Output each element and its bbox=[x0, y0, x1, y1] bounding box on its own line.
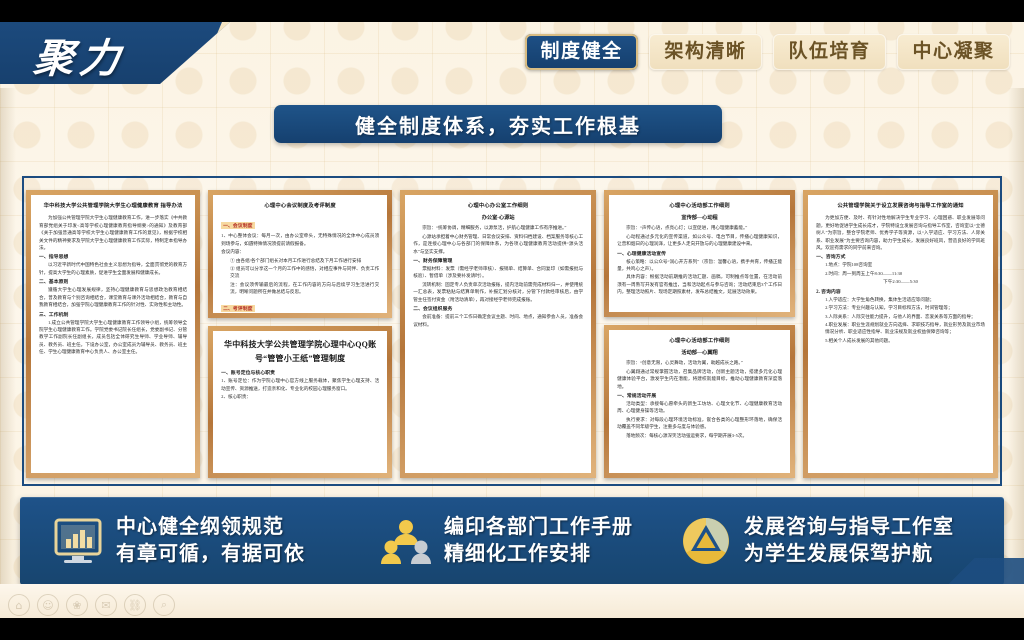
doc-heading: 一、会议制度 bbox=[221, 222, 254, 229]
doc-body: 宗旨：“创意无限，心灵舞动，活动为翼，助越成长之路。”心翼翔通过常规掌握活动，召… bbox=[617, 359, 782, 439]
doc-body: 一、账号定位与核心职责1、账号定位：作为学院心理中心官方线上服务载体，聚焦学生心… bbox=[221, 369, 379, 400]
doc-heading: 二、会议组织服务 bbox=[413, 305, 583, 312]
doc-body: 为更加方便、及时、有针对性地解决学生专业学习、心理困惑、职业发展等问题，更好地促… bbox=[816, 214, 985, 344]
people-group-icon bbox=[380, 515, 432, 567]
doc-paragraph: 1、中心整体会议：每月一次，由办公室牵头，无特殊情况的全体中心成员须到场参与，如… bbox=[221, 232, 379, 247]
qq-icon[interactable]: ✉ bbox=[95, 594, 117, 616]
logo-text: 聚力 bbox=[31, 26, 129, 84]
doc-card-5[interactable]: 心理中心活动部工作细则 活动部—心翼翔 宗旨：“创意无限，心灵舞动，活动为翼，助… bbox=[604, 325, 795, 478]
doc-paragraph: 宗旨：“声传心语，点亮心灯；以宣促进，用心理健康蓄能。” bbox=[617, 224, 782, 231]
monitor-chart-icon bbox=[52, 515, 104, 567]
doc-paragraph: 1.入学适应：大学生角色转换，集体生活适应等问题； bbox=[816, 296, 985, 303]
link-icon[interactable]: ⛓ bbox=[124, 594, 146, 616]
doc-paragraph: 宗旨：“统筹协调，精细服务，以源泵活，护航心理健康工作有序推进。” bbox=[413, 224, 583, 231]
right-edge-shade bbox=[1008, 88, 1024, 588]
doc-paragraph: 流转机制：固定专人负责单次活动报账，提内活动前需完成材料归一，并使用统一汇总表，… bbox=[413, 281, 583, 303]
doc-title: 心理中心活动部工作细则 bbox=[617, 337, 782, 345]
doc-heading: 三、工作机制 bbox=[39, 311, 187, 318]
doc-paragraph: 注：会议须传输最后的流程，在工作内容的方向与后续学习生活进行交流，明晰问题所在并… bbox=[221, 281, 379, 296]
doc-paragraph: 心动程通过多元化的宣传渠道，如公众号、电台节目，传播心理健康知识，让普和烟日的心… bbox=[617, 233, 782, 248]
doc-title: 华中科技大学公共管理学院心理中心QQ账号“管管小王纸”管理制度 bbox=[221, 338, 379, 365]
doc-subtitle: 活动部—心翼翔 bbox=[617, 349, 782, 356]
doc-paragraph: 3.人际关系：人际交往能力提升，与他人的界面、恋爱关系等方面的指导； bbox=[816, 313, 985, 320]
doc-paragraph: 核心策略：以公众号“润心开方系列”（宗旨：温馨心语，携手共育，传播正能量，共鸣心… bbox=[617, 258, 782, 273]
doc-card-3[interactable]: 心理中心办公室工作细则 办公室-心源站 宗旨：“统筹协调，精细服务，以源泵活，护… bbox=[400, 190, 596, 478]
doc-paragraph: 宗旨：“创意无限，心灵舞动，活动为翼，助越成长之路。” bbox=[617, 359, 782, 366]
doc-heading: 二、基本原则 bbox=[39, 278, 187, 285]
doc-paragraph: ② 组员可以分享这一个月的工作中的感悟，对相应事件与同伴、负责工作交流 bbox=[221, 265, 379, 280]
section-title-text: 健全制度体系，夯实工作根基 bbox=[355, 110, 641, 139]
doc-paragraph: 以习近平新时代中国特色社会主义思想为指导，全面贯彻党的教育方针，提高大学生的心理… bbox=[39, 261, 187, 276]
doc-paragraph: 下午2:30——5:30 bbox=[816, 278, 985, 285]
doc-title: 心理中心会议制度及考评制度 bbox=[221, 202, 379, 210]
doc-paragraph: 2.学习方法：专业兴趣与认知，学习目标和方法，时间管理等； bbox=[816, 304, 985, 311]
doc-card-6[interactable]: 公共管理学院关于设立发展咨询与指导工作室的通知 为更加方便、及时、有针对性地解决… bbox=[803, 190, 998, 478]
doc-title: 心理中心活动部工作细则 bbox=[617, 202, 782, 210]
feature-line1: 编印各部门工作手册 bbox=[444, 516, 633, 538]
doc-card-1[interactable]: 心理中心会议制度及考评制度 一、会议制度1、中心整体会议：每月一次，由办公室牵头… bbox=[208, 190, 392, 318]
doc-card-2[interactable]: 华中科技大学公共管理学院心理中心QQ账号“管管小王纸”管理制度 一、账号定位与核… bbox=[208, 326, 392, 478]
doc-heading: 一、账号定位与核心职责 bbox=[221, 369, 379, 376]
doc-paragraph: 会议内容： bbox=[221, 248, 379, 255]
doc-column-5: 公共管理学院关于设立发展咨询与指导工作室的通知 为更加方便、及时、有针对性地解决… bbox=[803, 190, 998, 478]
doc-column-2: 心理中心会议制度及考评制度 一、会议制度1、中心整体会议：每月一次，由办公室牵头… bbox=[208, 190, 392, 478]
doc-paragraph: 落地频次：每核心源深笑活动强运要求，每学期开展3-5次。 bbox=[617, 432, 782, 439]
doc-heading: 2. 咨询内容 bbox=[816, 288, 985, 295]
doc-column-4: 心理中心活动部工作细则 宣传部—心动程 宗旨：“声传心语，点亮心灯；以宣促进，用… bbox=[604, 190, 795, 478]
feature-line2: 精细化工作安排 bbox=[444, 541, 633, 568]
doc-title: 公共管理学院关于设立发展咨询与指导工作室的通知 bbox=[816, 202, 985, 210]
highlights-bar: 中心健全纲领规范 有章可循，有据可依 编印各部门工作手册 精细化工作安排 bbox=[20, 497, 1004, 585]
search-icon[interactable]: ⌕ bbox=[153, 594, 175, 616]
weibo-icon[interactable]: ❀ bbox=[66, 594, 88, 616]
feature-line2: 有章可循，有据可依 bbox=[116, 541, 305, 568]
doc-heading: 一、指导思想 bbox=[39, 253, 187, 260]
doc-paragraph: 4.职业发展：职业生涯规划就业方向选择、求职技巧指导，就业形势及就业市场情况分析… bbox=[816, 321, 985, 336]
doc-paragraph: 1.地点：学院108咨询室 bbox=[816, 261, 985, 268]
doc-paragraph: 5.相关个人成长发展的其他问题。 bbox=[816, 337, 985, 344]
letterbox-bottom bbox=[0, 618, 1024, 640]
doc-body: 一、会议制度1、中心整体会议：每月一次，由办公室牵头，无特殊情况的全体中心成员须… bbox=[221, 214, 379, 318]
doc-heading: 一、咨询方式 bbox=[816, 253, 985, 260]
feature-text-1: 中心健全纲领规范 有章可循，有据可依 bbox=[116, 514, 305, 568]
doc-paragraph: 1.成立公共管理学院大学生心理健康教育工作领导小组，统筹领导全院学生心理健康教育… bbox=[39, 319, 187, 356]
doc-paragraph: 活动类型：承接每心愿牵头的新生工坊坊、心理文化节、心理健康教育活动周、心理健身操… bbox=[617, 400, 782, 415]
doc-paragraph: 心翼翔通过常规掌握活动，召集品牌活动，创新主题活动，搭建多元化心理健康体验平台，… bbox=[617, 368, 782, 390]
doc-paragraph: 2、核心职责： bbox=[221, 393, 379, 400]
triangle-circle-icon bbox=[680, 515, 732, 567]
doc-title: 华中科技大学公共管理学院大学生心理健康教育 指导办法 bbox=[39, 202, 187, 210]
feature-text-2: 编印各部门工作手册 精细化工作安排 bbox=[444, 514, 633, 568]
doc-paragraph: 中心成员考评采取量化考核与日常表现相结合的方式，由办公室牵头统计汇总，按学期进行… bbox=[221, 315, 379, 318]
tab-zhongxinningju[interactable]: 中心凝聚 bbox=[897, 34, 1010, 70]
doc-paragraph: 执行要求：对每段心理环境活动标准，嵌合各类的心理整形环落地，确保活动覆盖不同年级… bbox=[617, 416, 782, 431]
doc-paragraph: ① 由各组/各个部门组长对本月工作进行总结及下月工作进行安排 bbox=[221, 257, 379, 264]
feature-item-1: 中心健全纲领规范 有章可循，有据可依 bbox=[20, 514, 380, 568]
doc-paragraph: 票据材料：发票（需经学老师审核）、报销单、结算单、合同复印（如需报批与核验）、暂… bbox=[413, 265, 583, 280]
documents-grid: 华中科技大学公共管理学院大学生心理健康教育 指导办法 为加强公共管理学院大学生心… bbox=[26, 190, 998, 478]
doc-paragraph: 2.时间：周一到周五上午8:30——11:30 bbox=[816, 270, 985, 277]
doc-card-4[interactable]: 心理中心活动部工作细则 宣传部—心动程 宗旨：“声传心语，点亮心灯；以宣促进，用… bbox=[604, 190, 795, 317]
tab-duiwupeiyu[interactable]: 队伍培育 bbox=[773, 34, 886, 70]
doc-card-0[interactable]: 华中科技大学公共管理学院大学生心理健康教育 指导办法 为加强公共管理学院大学生心… bbox=[26, 190, 200, 478]
slide-root: 聚力 制度健全 架构清晰 队伍培育 中心凝聚 健全制度体系，夯实工作根基 华中科… bbox=[0, 0, 1024, 640]
feature-line1: 中心健全纲领规范 bbox=[116, 516, 284, 538]
doc-paragraph: 1、账号定位：作为学院心理中心官方线上服务载体，聚焦学生心理支持、活动宣传、资源… bbox=[221, 377, 379, 392]
doc-paragraph: 会前准备：提前三个工作日确定会议主题、时间、地点，通知参会人员，准备会议材料。 bbox=[413, 313, 583, 328]
feature-line1: 发展咨询与指导工作室 bbox=[744, 516, 954, 538]
doc-paragraph: 为更加方便、及时、有针对性地解决学生专业学习、心理困惑、职业发展等问题，更好地促… bbox=[816, 214, 985, 251]
doc-subtitle: 宣传部—心动程 bbox=[617, 214, 782, 221]
tab-zhidujianquan[interactable]: 制度健全 bbox=[525, 34, 638, 70]
nav-tabs: 制度健全 架构清晰 队伍培育 中心凝聚 bbox=[525, 34, 1010, 70]
doc-column-3: 心理中心办公室工作细则 办公室-心源站 宗旨：“统筹协调，精细服务，以源泵活，护… bbox=[400, 190, 596, 478]
tab-jiagouqingxi[interactable]: 架构清晰 bbox=[649, 34, 762, 70]
doc-heading: 二、考评制度 bbox=[221, 305, 254, 312]
doc-subtitle: 办公室-心源站 bbox=[413, 214, 583, 221]
wechat-icon[interactable]: ☺ bbox=[37, 594, 59, 616]
doc-body: 宗旨：“声传心语，点亮心灯；以宣促进，用心理健康蓄能。”心动程通过多元化的宣传渠… bbox=[617, 224, 782, 296]
doc-body: 宗旨：“统筹协调，精细服务，以源泵活，护航心理健康工作有序推进。”心源站承担着中… bbox=[413, 224, 583, 328]
header: 聚力 制度健全 架构清晰 队伍培育 中心凝聚 bbox=[0, 22, 1024, 88]
home-icon[interactable]: ⌂ bbox=[8, 594, 30, 616]
doc-heading: 一、心理健康活动宣传 bbox=[617, 250, 782, 257]
doc-column-1: 华中科技大学公共管理学院大学生心理健康教育 指导办法 为加强公共管理学院大学生心… bbox=[26, 190, 200, 478]
doc-paragraph: 具体内容：根据活动前期推的活动汇题、画稿，可制推点等位置，在活动前须有一周熟写开… bbox=[617, 273, 782, 295]
social-icon-row: ⌂ ☺ ❀ ✉ ⛓ ⌕ bbox=[8, 594, 175, 616]
doc-paragraph: 为加强公共管理学院大学生心理健康教育工作，进一步落实《中共教育部党组关于印发<高… bbox=[39, 214, 187, 251]
doc-body: 为加强公共管理学院大学生心理健康教育工作，进一步落实《中共教育部党组关于印发<高… bbox=[39, 214, 187, 356]
left-edge-shade bbox=[0, 88, 16, 588]
doc-paragraph: 心源站承担着中心财务管理、日常会议安排、资料归档建设、档案服务等核心工作，是连接… bbox=[413, 233, 583, 255]
doc-heading: 一、常规活动开展 bbox=[617, 392, 782, 399]
doc-heading: 一、财务保障管理 bbox=[413, 257, 583, 264]
doc-title: 心理中心办公室工作细则 bbox=[413, 202, 583, 210]
doc-paragraph: 遵循大学生心理发展规律，坚持心理健康教育与思想政治教育相结合，普及教育与个别咨询… bbox=[39, 286, 187, 308]
letterbox-top bbox=[0, 0, 1024, 22]
section-title-banner: 健全制度体系，夯实工作根基 bbox=[274, 105, 722, 143]
feature-item-2: 编印各部门工作手册 精细化工作安排 bbox=[380, 514, 680, 568]
